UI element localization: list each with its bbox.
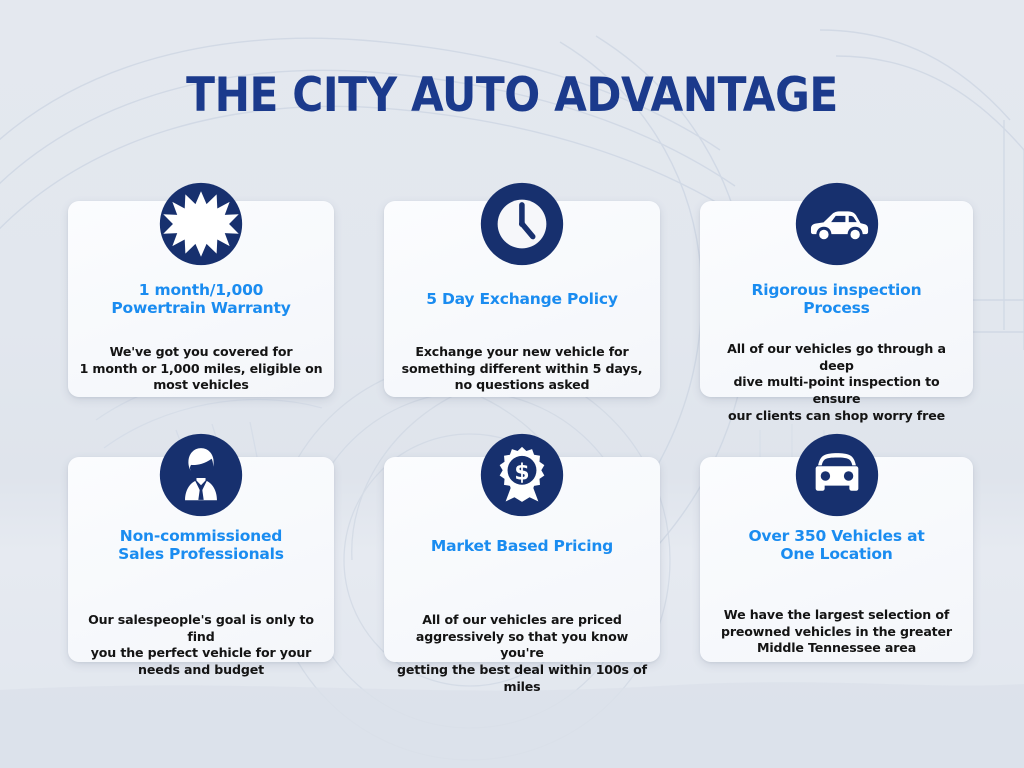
card-body: All of our vehicles are priced aggressiv… <box>394 612 650 696</box>
card-heading: Non-commissioned Sales Professionals <box>76 527 326 563</box>
starburst-icon <box>159 182 243 266</box>
page-title: THE CITY AUTO ADVANTAGE <box>51 72 973 119</box>
card-body: We have the largest selection of preowne… <box>710 607 963 657</box>
advantage-card[interactable]: Rigorous inspection Process All of our v… <box>700 201 973 397</box>
price-badge-icon: $ <box>480 433 564 517</box>
advantage-card[interactable]: 1 month/1,000 Powertrain Warranty We've … <box>68 201 334 397</box>
advantage-card[interactable]: Non-commissioned Sales Professionals Our… <box>68 457 334 662</box>
card-heading: Over 350 Vehicles at One Location <box>708 527 965 563</box>
card-heading: 1 month/1,000 Powertrain Warranty <box>76 281 326 317</box>
salesperson-icon <box>159 433 243 517</box>
card-body: All of our vehicles go through a deep di… <box>710 341 963 425</box>
card-heading: 5 Day Exchange Policy <box>392 290 652 308</box>
clock-icon <box>480 182 564 266</box>
card-heading: Rigorous inspection Process <box>708 281 965 317</box>
advantage-card[interactable]: $ Market Based Pricing All of our vehicl… <box>384 457 660 662</box>
advantage-card[interactable]: Over 350 Vehicles at One Location We hav… <box>700 457 973 662</box>
advantage-card[interactable]: 5 Day Exchange Policy Exchange your new … <box>384 201 660 397</box>
card-body: We've got you covered for 1 month or 1,0… <box>78 344 324 394</box>
car-side-icon <box>795 182 879 266</box>
svg-text:$: $ <box>514 461 529 486</box>
card-heading: Market Based Pricing <box>392 537 652 555</box>
card-body: Our salespeople's goal is only to find y… <box>78 612 324 679</box>
car-front-icon <box>795 433 879 517</box>
infographic-canvas: THE CITY AUTO ADVANTAGE 1 month/1,000 Po… <box>0 0 1024 768</box>
card-body: Exchange your new vehicle for something … <box>394 344 650 394</box>
